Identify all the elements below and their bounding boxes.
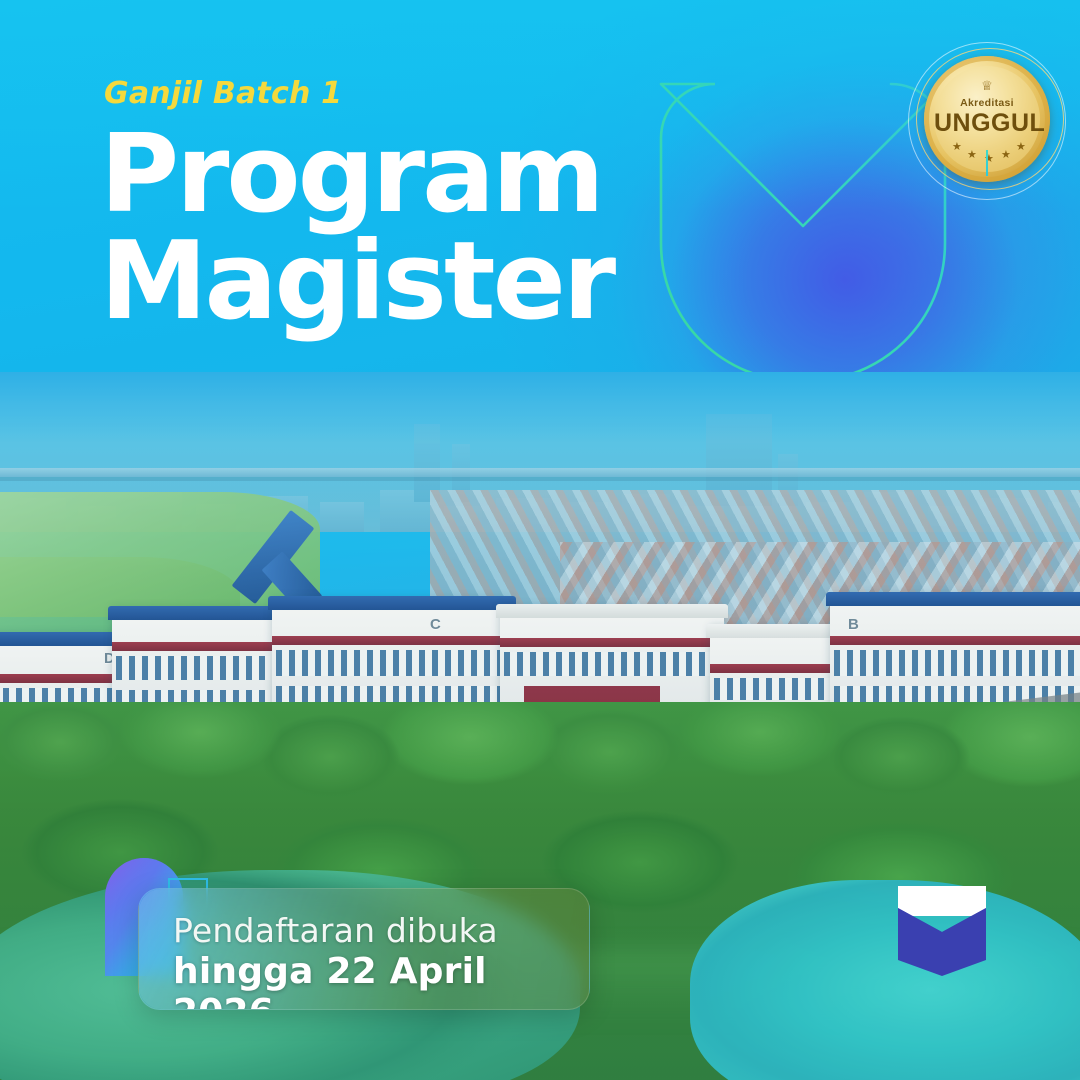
open-book-logo: [898, 886, 986, 976]
building-windows: [834, 650, 1080, 676]
eyebrow-text: Ganjil Batch 1: [104, 76, 342, 111]
highway-shadow: [0, 477, 1080, 481]
star-icon: ★: [967, 150, 977, 161]
building-roof: [706, 624, 846, 638]
building-roof: [0, 632, 122, 646]
elevated-highway: [0, 468, 1080, 477]
badge-crest-icon: ♕: [981, 78, 994, 94]
badge-unggul-label: UNGGUL: [934, 109, 1040, 138]
poster-canvas: ♕ Akreditasi UNGGUL ★ ★ ★ ★ ★: [0, 0, 1080, 1080]
building-band: [0, 674, 118, 683]
building-band: [272, 636, 512, 645]
banner-line-1: Pendaftaran dibuka: [173, 911, 498, 950]
page-title: Program Magister: [100, 122, 800, 336]
star-icon: ★: [952, 142, 962, 153]
building-band: [500, 638, 724, 647]
headline-line-2: Magister: [100, 229, 800, 336]
star-icon: ★: [1001, 150, 1011, 161]
building-label-b: B: [848, 616, 859, 633]
photo-top-fade: [0, 372, 1080, 442]
building-windows: [714, 678, 838, 700]
building-band: [112, 642, 274, 651]
badge-akreditasi-label: Akreditasi: [934, 97, 1040, 109]
building-band: [710, 664, 842, 673]
badge-stem-line: [986, 150, 988, 176]
building-band: [830, 636, 1080, 645]
building-windows: [116, 656, 270, 680]
building-windows: [504, 652, 720, 676]
building-roof: [268, 596, 516, 610]
building-roof: [496, 604, 728, 618]
banner-line-2: hingga 22 April 2026: [173, 951, 589, 1010]
registration-banner: Pendaftaran dibuka hingga 22 April 2026: [138, 888, 590, 1010]
star-icon: ★: [1016, 142, 1026, 153]
accreditation-badge: ♕ Akreditasi UNGGUL ★ ★ ★ ★ ★: [908, 42, 1066, 200]
building-label-c: C: [430, 616, 441, 633]
lake-right-turquoise: [690, 880, 1080, 1080]
building-roof: [826, 592, 1080, 606]
building-windows: [276, 650, 508, 676]
building-roof: [108, 606, 278, 620]
